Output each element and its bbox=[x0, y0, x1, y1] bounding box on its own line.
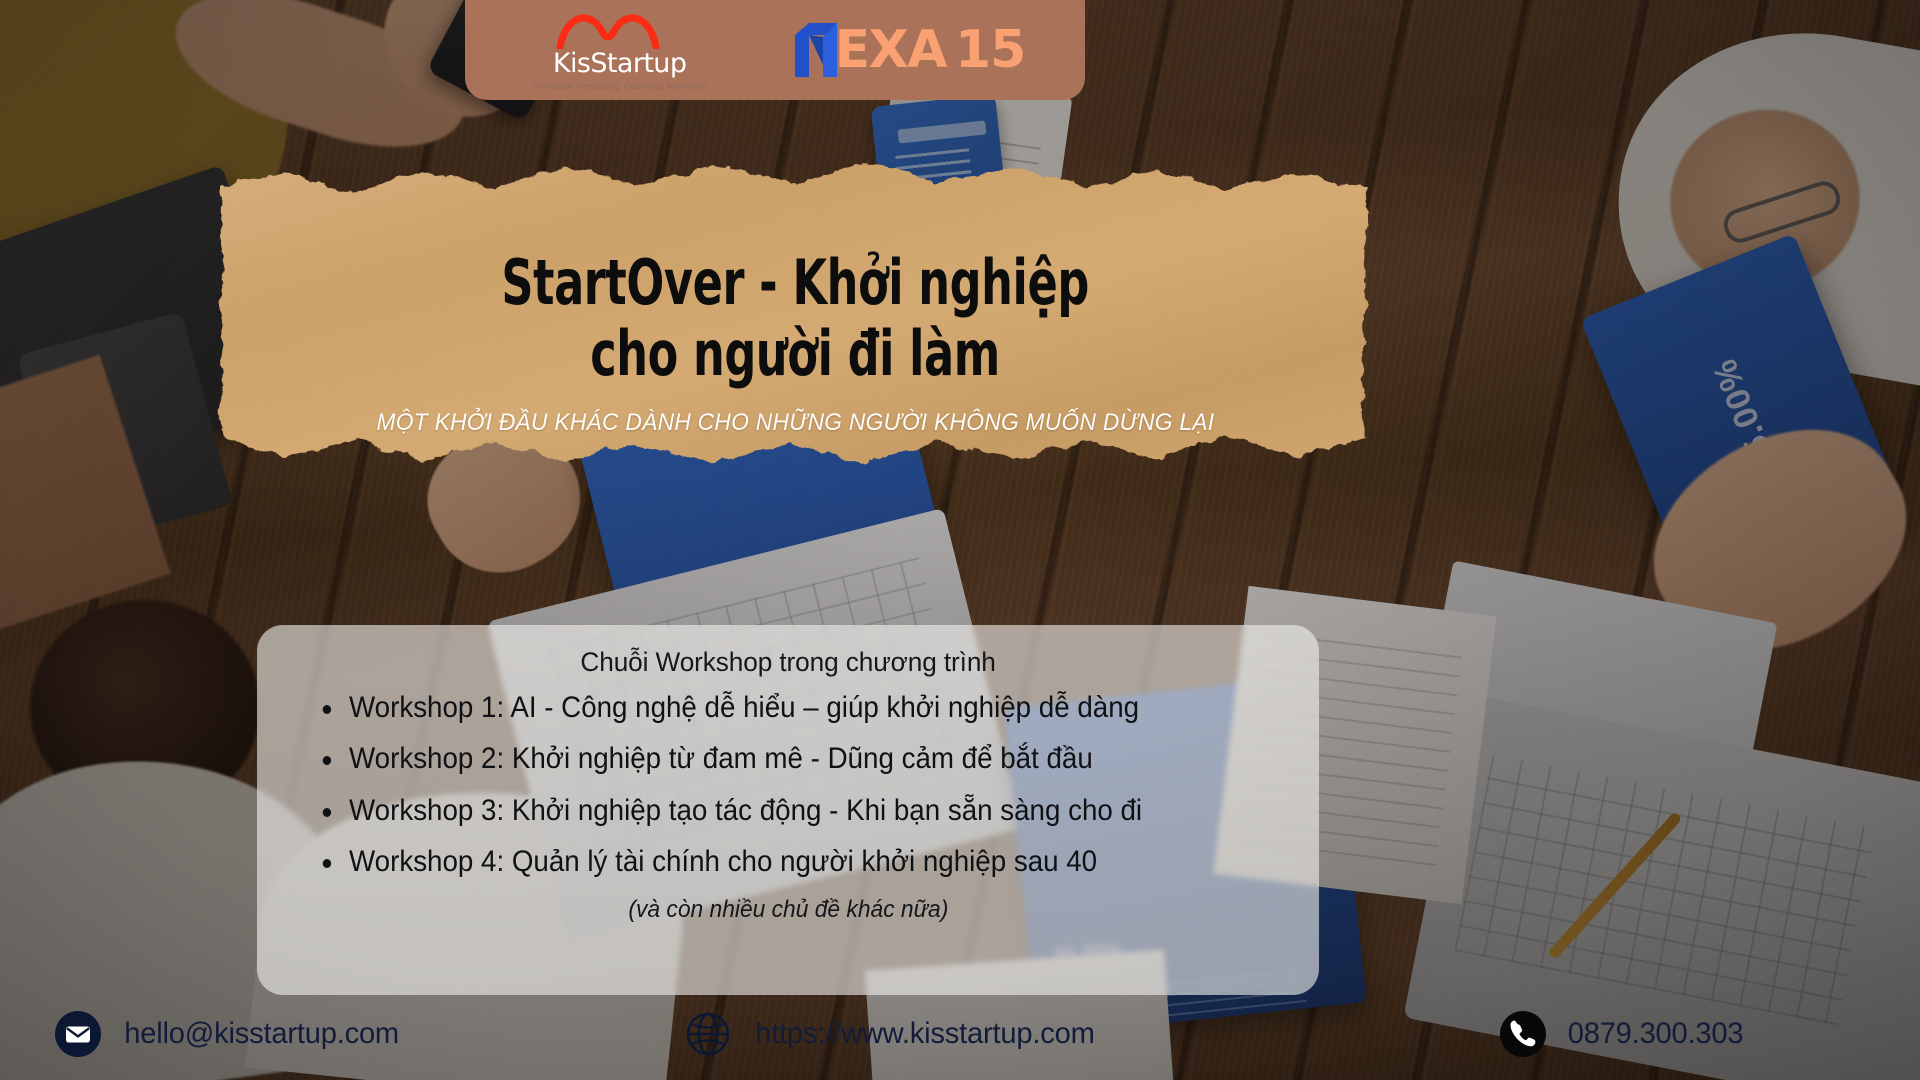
workshop-panel-heading: Chuỗi Workshop trong chương trình bbox=[580, 647, 995, 678]
kisstartup-tagline: Innovation Consulting, Coaching, Mentori… bbox=[533, 81, 706, 91]
header-logo-bar: KisStartup Innovation Consulting, Coachi… bbox=[465, 0, 1085, 100]
contact-email-text: hello@kisstartup.com bbox=[124, 1017, 399, 1051]
kisstartup-logo[interactable]: KisStartup Innovation Consulting, Coachi… bbox=[525, 9, 715, 91]
email-icon bbox=[55, 1011, 101, 1057]
list-item: Workshop 4: Quản lý tài chính cho người … bbox=[349, 846, 1233, 878]
workshop-panel-note: (và còn nhiều chủ đề khác nữa) bbox=[628, 896, 948, 924]
red-arch-icon bbox=[556, 9, 684, 49]
nexa-n-mark-icon bbox=[793, 21, 839, 79]
contact-website[interactable]: https://www.kisstartup.com bbox=[685, 1008, 1100, 1060]
list-item: Workshop 1: AI - Công nghệ dễ hiểu – giú… bbox=[349, 692, 1233, 724]
poster-title-line-2: cho người đi làm bbox=[590, 319, 1000, 389]
nexa-logo[interactable]: EXA 15 bbox=[793, 19, 1026, 81]
nexa-wordmark: EXA bbox=[835, 24, 946, 76]
list-item: Workshop 2: Khởi nghiệp từ đam mê - Dũng… bbox=[349, 743, 1233, 775]
poster-title-line-1: StartOver - Khởi nghiệp bbox=[501, 248, 1088, 318]
workshop-panel: Chuỗi Workshop trong chương trình Worksh… bbox=[257, 625, 1319, 995]
poster-subtitle: MỘT KHỞI ĐẦU KHÁC DÀNH CHO NHỮNG NGƯỜI K… bbox=[376, 409, 1214, 437]
poster-canvas: 85.00% 85.00% KisStartup Innovation Cons… bbox=[0, 0, 1920, 1080]
globe-icon bbox=[685, 1011, 731, 1057]
phone-icon bbox=[1500, 1011, 1546, 1057]
footer-contact-bar: hello@kisstartup.com https://www.kisstar… bbox=[0, 988, 1920, 1080]
kisstartup-wordmark: KisStartup bbox=[553, 50, 686, 77]
torn-paper-banner: StartOver - Khởi nghiệp cho người đi làm… bbox=[215, 140, 1375, 485]
list-item: Workshop 3: Khởi nghiệp tạo tác động - K… bbox=[349, 795, 1233, 827]
banner-text-block: StartOver - Khởi nghiệp cho người đi làm… bbox=[215, 140, 1375, 485]
nexa-edition-number: 15 bbox=[955, 24, 1025, 76]
contact-email[interactable]: hello@kisstartup.com bbox=[55, 1008, 403, 1060]
workshop-list: Workshop 1: AI - Công nghệ dễ hiểu – giú… bbox=[287, 692, 1289, 898]
contact-website-text: https://www.kisstartup.com bbox=[755, 1017, 1094, 1051]
contact-phone[interactable]: 0879.300.303 bbox=[1500, 1008, 1746, 1060]
contact-phone-text: 0879.300.303 bbox=[1568, 1017, 1744, 1051]
